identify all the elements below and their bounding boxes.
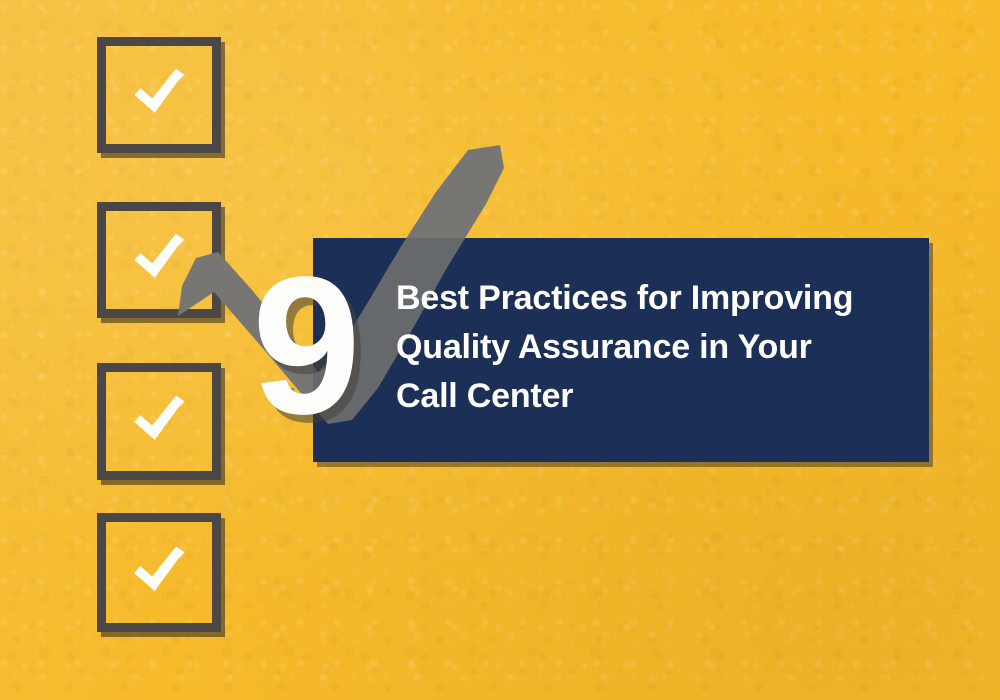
- headline-number: 9: [252, 248, 357, 444]
- headline-line-1: Best Practices for Improving: [396, 274, 926, 323]
- checkbox-3: [97, 363, 221, 480]
- check-mark-icon: [106, 372, 212, 471]
- check-mark-icon: [106, 46, 212, 144]
- banner-canvas: 9 Best Practices for Improving Quality A…: [0, 0, 1000, 700]
- checkbox-4: [97, 513, 221, 632]
- headline-line-2: Quality Assurance in Your: [396, 323, 926, 372]
- check-mark-icon: [106, 522, 212, 623]
- headline-text: Best Practices for Improving Quality Ass…: [396, 274, 926, 421]
- checkbox-2: [97, 202, 221, 318]
- headline-line-3: Call Center: [396, 372, 926, 421]
- checkbox-1: [97, 37, 221, 153]
- check-mark-icon: [106, 211, 212, 309]
